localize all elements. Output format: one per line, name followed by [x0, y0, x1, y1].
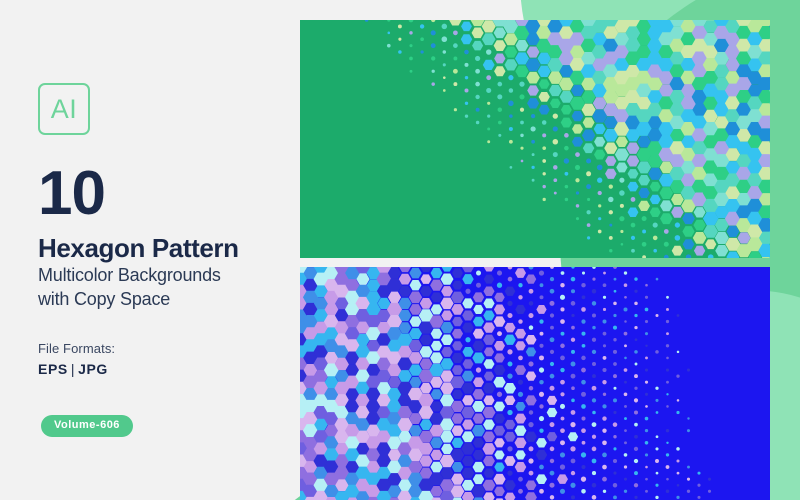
blue-hexagon-panel — [300, 267, 770, 500]
info-column: AI 10 Hexagon Pattern Multicolor Backgro… — [38, 0, 288, 500]
green-hexagon-panel — [300, 20, 770, 258]
volume-badge: Volume-606 — [41, 415, 133, 437]
page-subtitle: Multicolor Backgrounds with Copy Space — [38, 264, 221, 312]
format-eps: EPS — [38, 361, 68, 377]
file-formats-value: EPS|JPG — [38, 361, 108, 377]
pack-count: 10 — [38, 163, 105, 225]
page-subtitle-line-2: with Copy Space — [38, 288, 221, 312]
poster-canvas: AI 10 Hexagon Pattern Multicolor Backgro… — [0, 0, 800, 500]
blue-hexagon-pattern — [300, 267, 770, 500]
page-title: Hexagon Pattern — [38, 234, 239, 263]
format-jpg: JPG — [78, 361, 108, 377]
ai-format-badge-label: AI — [51, 96, 78, 123]
green-hexagon-pattern — [300, 20, 770, 258]
ai-format-badge: AI — [38, 83, 90, 135]
format-separator: | — [68, 361, 78, 377]
page-subtitle-line-1: Multicolor Backgrounds — [38, 264, 221, 288]
file-formats-label: File Formats: — [38, 341, 115, 356]
